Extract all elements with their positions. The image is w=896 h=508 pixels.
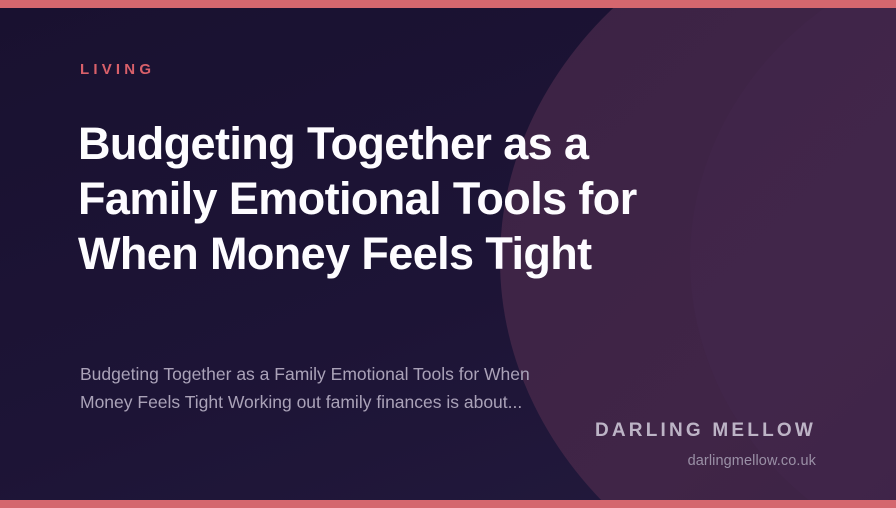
top-accent-rule [0, 0, 896, 8]
category-label: LIVING [80, 62, 155, 77]
bottom-accent-rule [0, 500, 896, 508]
brand-block: DARLING MELLOW darlingmellow.co.uk [595, 421, 816, 470]
article-excerpt: Budgeting Together as a Family Emotional… [80, 360, 580, 417]
page-title: Budgeting Together as a Family Emotional… [78, 117, 638, 282]
social-share-card: LIVING Budgeting Together as a Family Em… [0, 0, 896, 508]
brand-url: darlingmellow.co.uk [595, 454, 816, 470]
brand-name: DARLING MELLOW [595, 421, 816, 442]
card-content: LIVING Budgeting Together as a Family Em… [0, 0, 896, 508]
